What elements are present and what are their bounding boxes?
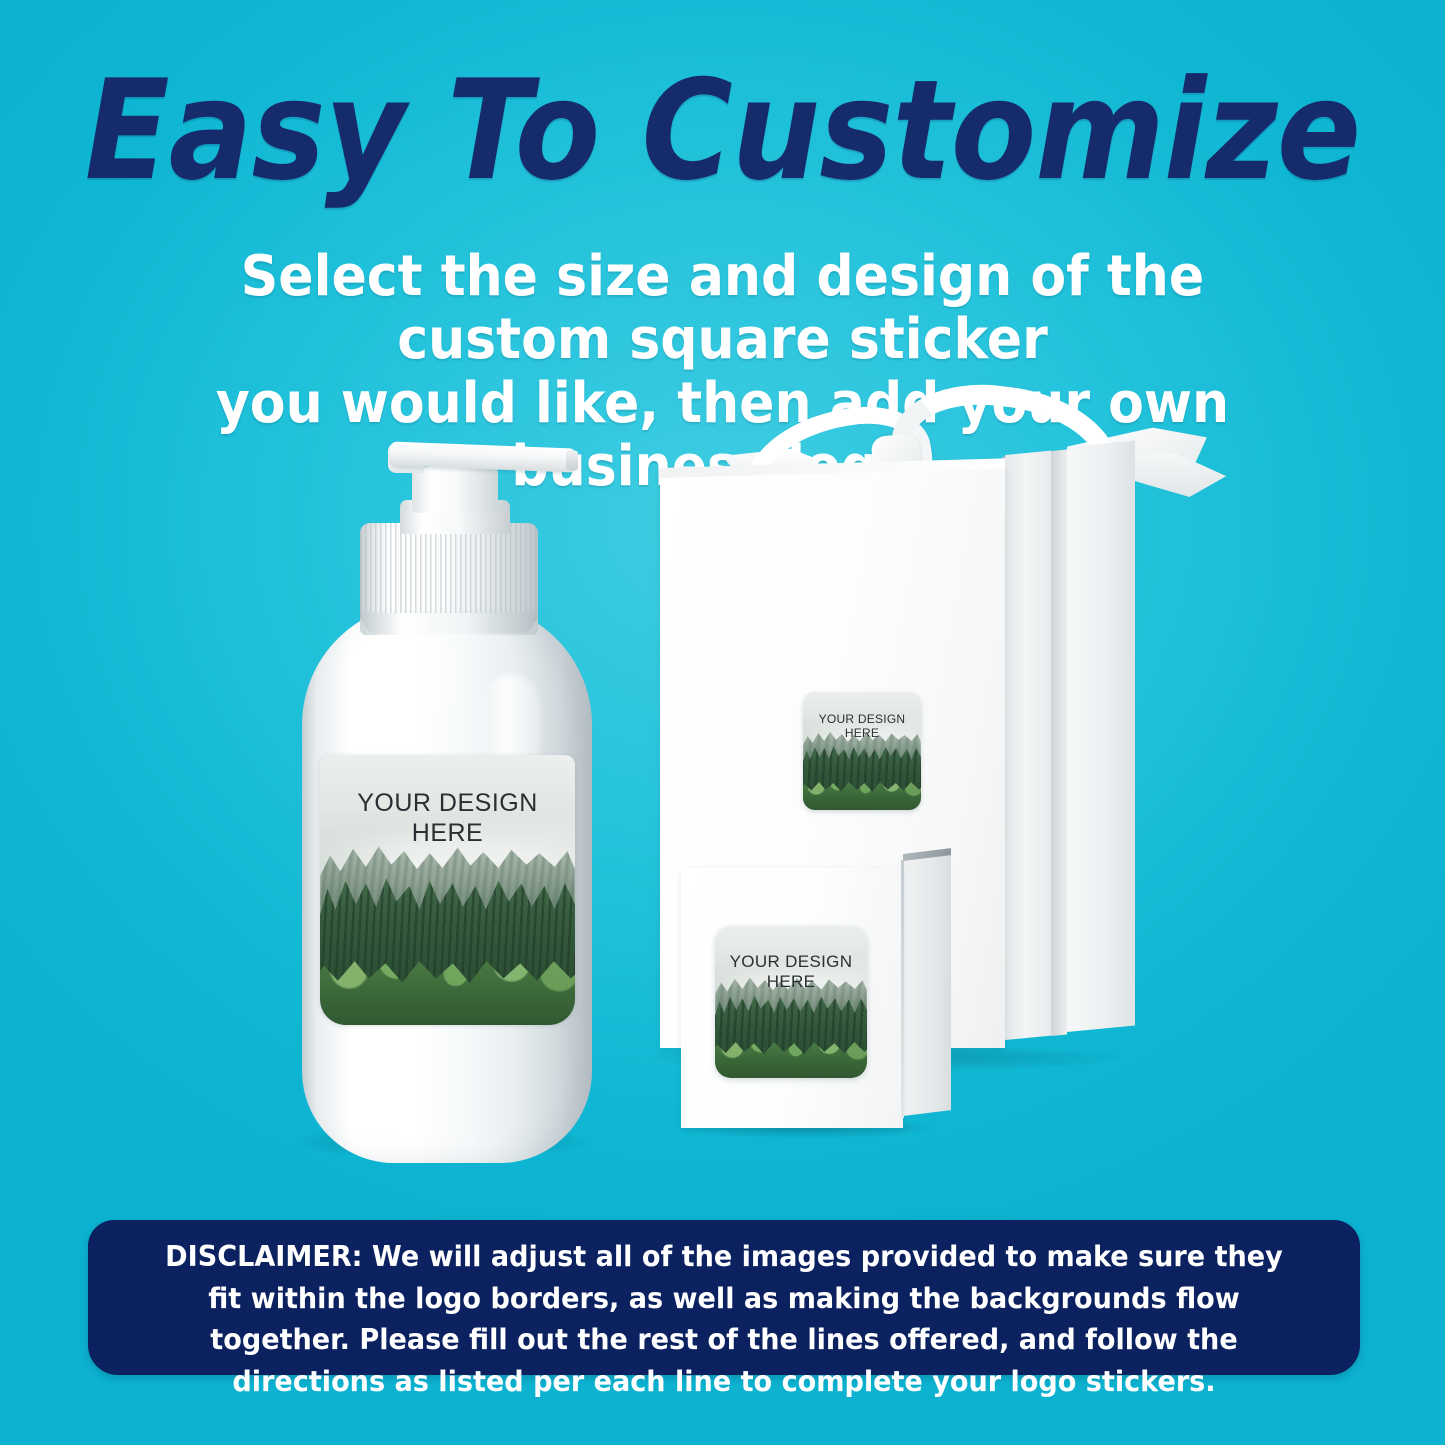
pump-bottle: YOUR DESIGN HERE xyxy=(290,425,600,1165)
bottle-design-placeholder: YOUR DESIGN HERE xyxy=(320,789,575,848)
promo-banner: Easy To Customize Select the size and de… xyxy=(0,0,1445,1445)
disclaimer-body: We will adjust all of the images provide… xyxy=(208,1240,1283,1398)
forest-artwork: YOUR DESIGN HERE xyxy=(803,692,921,810)
forest-artwork: YOUR DESIGN HERE xyxy=(715,926,867,1078)
page-title: Easy To Customize xyxy=(72,62,1373,200)
design-line-2: HERE xyxy=(715,972,867,992)
giftbox-design-placeholder: YOUR DESIGN HERE xyxy=(803,712,921,740)
pump-collar-base xyxy=(364,613,534,633)
design-line-1: YOUR DESIGN xyxy=(715,952,867,972)
giftbox-side-inner xyxy=(1005,451,1051,1040)
giftbox-side-middle xyxy=(1051,449,1067,1036)
pump-neck xyxy=(412,467,498,513)
cube-seam xyxy=(901,860,904,1118)
subtitle-line-1: Select the size and design of the custom… xyxy=(241,244,1204,372)
giftbox-side-outer xyxy=(1067,440,1135,1032)
cube-side-panel xyxy=(903,848,951,1116)
pump-collar xyxy=(360,523,538,623)
giftbox-sticker: YOUR DESIGN HERE xyxy=(803,692,921,810)
small-cube-box: YOUR DESIGN HERE xyxy=(675,850,955,1150)
bottle-highlight xyxy=(348,621,468,771)
disclaimer-label: DISCLAIMER: xyxy=(165,1240,362,1273)
bottle-label: YOUR DESIGN HERE xyxy=(320,755,575,1025)
design-line-1: YOUR DESIGN xyxy=(803,712,921,726)
forest-shading xyxy=(715,926,867,1078)
disclaimer-banner: DISCLAIMER: We will adjust all of the im… xyxy=(88,1220,1360,1375)
forest-shading xyxy=(803,692,921,810)
design-line-1: YOUR DESIGN xyxy=(320,789,575,819)
cube-design-placeholder: YOUR DESIGN HERE xyxy=(715,952,867,992)
design-line-2: HERE xyxy=(803,726,921,740)
design-line-2: HERE xyxy=(320,819,575,849)
forest-artwork: YOUR DESIGN HERE xyxy=(320,755,575,1025)
cube-sticker: YOUR DESIGN HERE xyxy=(715,926,867,1078)
disclaimer-text: DISCLAIMER: We will adjust all of the im… xyxy=(152,1236,1296,1402)
